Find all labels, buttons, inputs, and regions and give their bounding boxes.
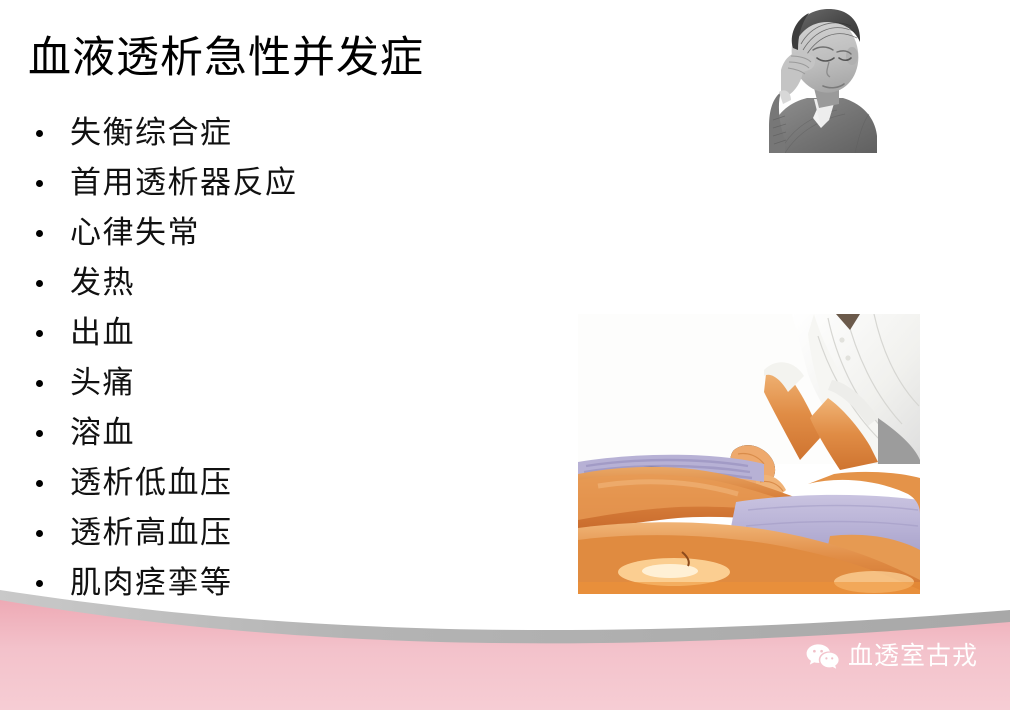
- watermark-label: 血透室古戎: [848, 644, 978, 669]
- bullet-dot-icon: [36, 230, 43, 237]
- bullet-list: 失衡综合症 首用透析器反应 心律失常 发热 出血 头痛 溶血 透析低血压: [26, 108, 546, 608]
- list-item: 头痛: [26, 358, 546, 408]
- list-item: 透析高血压: [26, 508, 546, 558]
- list-item-label: 出血: [70, 315, 135, 350]
- bullet-dot-icon: [36, 580, 43, 587]
- slide-canvas: 血液透析急性并发症 失衡综合症 首用透析器反应 心律失常 发热 出血 头痛: [0, 0, 1010, 710]
- list-item: 首用透析器反应: [26, 158, 546, 208]
- bullet-dot-icon: [36, 130, 43, 137]
- list-item: 溶血: [26, 408, 546, 458]
- watermark: 血透室古戎: [806, 643, 978, 669]
- list-item-label: 透析高血压: [70, 515, 233, 550]
- list-item-label: 失衡综合症: [70, 115, 233, 150]
- headache-photo: [751, 0, 882, 153]
- list-item: 失衡综合症: [26, 108, 546, 158]
- bullet-dot-icon: [36, 280, 43, 287]
- bullet-dot-icon: [36, 530, 43, 537]
- list-item: 发热: [26, 258, 546, 308]
- list-item-label: 透析低血压: [70, 465, 233, 500]
- list-item-label: 心律失常: [70, 215, 200, 250]
- list-item-label: 肌肉痉挛等: [70, 565, 233, 600]
- bullet-dot-icon: [36, 430, 43, 437]
- list-item-label: 溶血: [70, 415, 135, 450]
- bullet-dot-icon: [36, 330, 43, 337]
- page-title: 血液透析急性并发症: [28, 28, 424, 88]
- wechat-icon: [806, 643, 840, 669]
- leg-massage-photo: [578, 314, 920, 594]
- list-item: 出血: [26, 308, 546, 358]
- list-item-label: 发热: [70, 265, 135, 300]
- list-item: 透析低血压: [26, 458, 546, 508]
- bullet-dot-icon: [36, 480, 43, 487]
- list-item: 肌肉痉挛等: [26, 558, 546, 608]
- list-item-label: 首用透析器反应: [70, 165, 298, 200]
- bullet-dot-icon: [36, 180, 43, 187]
- list-item: 心律失常: [26, 208, 546, 258]
- list-item-label: 头痛: [70, 365, 135, 400]
- bullet-dot-icon: [36, 380, 43, 387]
